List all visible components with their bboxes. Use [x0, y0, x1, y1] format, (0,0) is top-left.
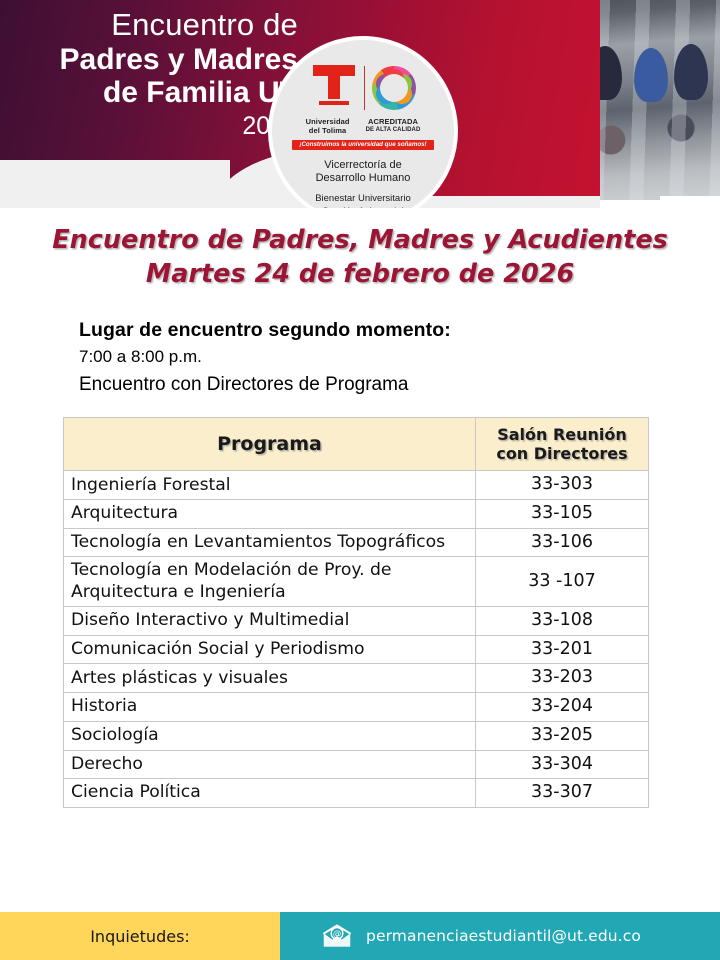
cell-program: Comunicación Social y Periodismo: [64, 635, 476, 664]
footer-label: Inquietudes:: [90, 927, 190, 946]
accreditation-line2: DE ALTA CALIDAD: [366, 127, 421, 134]
cell-room: 33 -107: [476, 557, 649, 607]
ut-letter-glyph: [313, 65, 355, 99]
cell-room: 33-304: [476, 750, 649, 779]
table-row: Comunicación Social y Periodismo33-201: [64, 635, 649, 664]
cell-room: 33-106: [476, 528, 649, 557]
table-row: Tecnología en Modelación de Proy. de Arq…: [64, 557, 649, 607]
cell-program: Historia: [64, 693, 476, 722]
university-name-line2: del Tolima: [306, 127, 350, 136]
cell-room: 33-201: [476, 635, 649, 664]
meeting-with: Encuentro con Directores de Programa: [79, 373, 639, 397]
office-name: Vicerrectoría de Desarrollo Humano: [316, 159, 411, 187]
footer-bar: Inquietudes: @ permanenciaestudiantil@ut…: [0, 912, 720, 960]
unit-name: Bienestar Universitario Sección Asistenc…: [315, 193, 411, 208]
table-row: Ciencia Política33-307: [64, 779, 649, 808]
office-name-line1: Vicerrectoría de: [316, 159, 411, 173]
banner-title: Encuentro de Padres y Madres de Familia …: [18, 8, 298, 140]
table-row: Sociología33-205: [64, 721, 649, 750]
unit-name-line1: Bienestar Universitario: [315, 193, 411, 205]
meeting-time: 7:00 a 8:00 p.m.: [79, 346, 639, 367]
banner-title-line3: de Familia UT: [18, 76, 298, 110]
cell-program: Artes plásticas y visuales: [64, 664, 476, 693]
banner-title-line2: Padres y Madres: [18, 43, 298, 77]
cell-room: 33-205: [476, 721, 649, 750]
cell-program: Ingeniería Forestal: [64, 471, 476, 500]
event-title-line2: Martes 24 de febrero de 2026: [0, 258, 720, 292]
footer-question-band: Inquietudes:: [0, 912, 280, 960]
table-row: Arquitectura33-105: [64, 500, 649, 529]
column-header-room: Salón Reunión con Directores: [476, 418, 649, 471]
cell-room: 33-105: [476, 500, 649, 529]
footer-contact-band: @ permanenciaestudiantil@ut.edu.co: [280, 912, 720, 960]
table-row: Historia33-204: [64, 693, 649, 722]
cell-room: 33-203: [476, 664, 649, 693]
accreditation-line1: ACREDITADA: [366, 118, 421, 127]
contact-email[interactable]: permanenciaestudiantil@ut.edu.co: [366, 927, 641, 945]
cell-room: 33-303: [476, 471, 649, 500]
table-row: Artes plásticas y visuales33-203: [64, 664, 649, 693]
table-header-row: Programa Salón Reunión con Directores: [64, 418, 649, 471]
event-title: Encuentro de Padres, Madres y Acudientes…: [0, 224, 720, 291]
table-row: Derecho33-304: [64, 750, 649, 779]
office-name-line2: Desarrollo Humano: [316, 172, 411, 186]
cell-program: Diseño Interactivo y Multimedial: [64, 607, 476, 636]
cell-room: 33-108: [476, 607, 649, 636]
banner-year: 2026: [18, 112, 298, 140]
photo-bottom-strip: [660, 196, 720, 208]
cell-program: Tecnología en Levantamientos Topográfico…: [64, 528, 476, 557]
accreditation-label: ACREDITADA DE ALTA CALIDAD: [366, 118, 421, 136]
cell-program: Tecnología en Modelación de Proy. de Arq…: [64, 557, 476, 607]
cell-program: Arquitectura: [64, 500, 476, 529]
cell-room: 33-307: [476, 779, 649, 808]
column-header-room-line1: Salón Reunión: [482, 425, 642, 444]
meeting-info: Lugar de encuentro segundo momento: 7:00…: [79, 318, 639, 396]
ut-underline: [319, 101, 349, 105]
unit-name-line2: Sección Asistencial: [315, 206, 411, 208]
event-title-line1: Encuentro de Padres, Madres y Acudientes: [0, 224, 720, 258]
cell-room: 33-204: [476, 693, 649, 722]
column-header-room-line2: con Directores: [482, 444, 642, 463]
meeting-place-heading: Lugar de encuentro segundo momento:: [79, 318, 639, 342]
cell-program: Ciencia Política: [64, 779, 476, 808]
cell-program: Sociología: [64, 721, 476, 750]
email-icon: @: [322, 924, 352, 948]
column-header-program: Programa: [64, 418, 476, 471]
ut-logo-icon: [311, 65, 357, 111]
program-room-table: Programa Salón Reunión con Directores In…: [63, 417, 649, 808]
banner-title-line1: Encuentro de: [18, 8, 298, 43]
table-row: Diseño Interactivo y Multimedial33-108: [64, 607, 649, 636]
svg-text:@: @: [333, 929, 341, 939]
logo-marks-row: [311, 61, 416, 115]
logo-captions: Universidad del Tolima ACREDITADA DE ALT…: [306, 118, 421, 136]
header-banner: Encuentro de Padres y Madres de Familia …: [0, 0, 720, 208]
university-name: Universidad del Tolima: [306, 118, 350, 136]
table-body: Ingeniería Forestal33-303Arquitectura33-…: [64, 471, 649, 808]
logo-divider: [364, 66, 365, 110]
university-slogan: ¡Construimos la universidad que soñamos!: [292, 140, 433, 150]
table-row: Ingeniería Forestal33-303: [64, 471, 649, 500]
table-row: Tecnología en Levantamientos Topográfico…: [64, 528, 649, 557]
cell-program: Derecho: [64, 750, 476, 779]
accreditation-wheel-icon: [372, 66, 416, 110]
